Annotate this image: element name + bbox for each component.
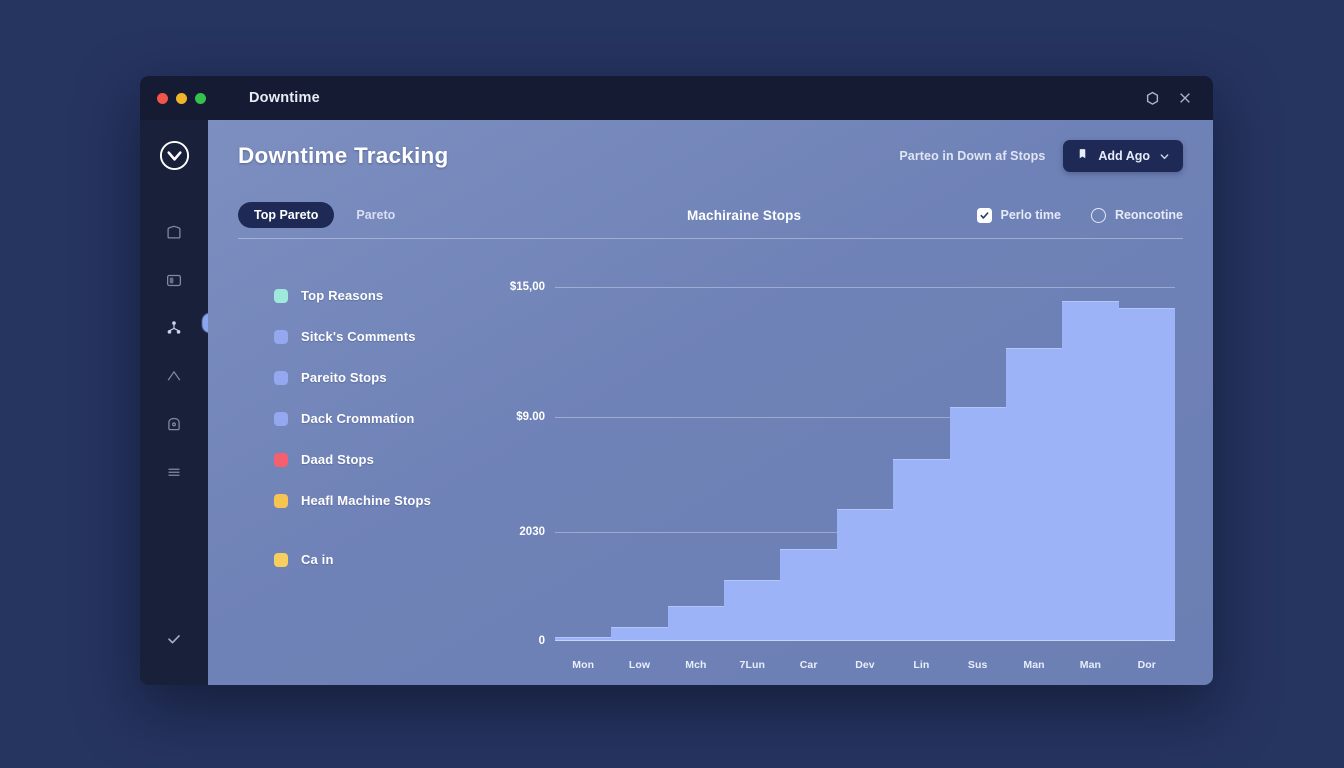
chart-section: Top ReasonsSitck's CommentsPareito Stops… xyxy=(232,239,1189,685)
chart-x-tick-label: Low xyxy=(611,659,667,671)
chart-x-tick-label: Dev xyxy=(837,659,893,671)
sidebar-item-network[interactable] xyxy=(152,306,196,350)
window-title: Downtime xyxy=(249,90,320,106)
page-header: Downtime Tracking Parteo in Down af Stop… xyxy=(232,120,1189,192)
chevron-circle-logo[interactable] xyxy=(158,139,191,172)
chart-x-tick-labels: MonLowMch7LunCarDevLinSusManManDor xyxy=(555,659,1175,671)
option-pareto-time[interactable]: Perlo time xyxy=(977,208,1061,223)
legend-item-label: Pareito Stops xyxy=(301,370,387,385)
legend-swatch xyxy=(274,412,288,426)
chart-bar[interactable] xyxy=(837,509,893,641)
sidebar-item-check[interactable] xyxy=(152,617,196,661)
chart-x-tick-label: Dor xyxy=(1119,659,1175,671)
close-icon[interactable] xyxy=(1178,91,1192,105)
legend-item[interactable]: Heafl Machine Stops xyxy=(274,480,493,521)
legend-item-label: Ca in xyxy=(301,552,334,567)
legend-item-label: Daad Stops xyxy=(301,452,374,467)
legend-item[interactable]: Top Reasons xyxy=(274,275,493,316)
radio-unchecked-icon[interactable] xyxy=(1091,208,1106,223)
app-window: Downtime xyxy=(140,76,1213,685)
header-note: Parteo in Down af Stops xyxy=(899,149,1045,163)
chart-bar[interactable] xyxy=(1062,301,1118,641)
chart-area: $15,00$9.0020300 MonLowMch7LunCarDevLinS… xyxy=(493,267,1183,685)
legend-swatch xyxy=(274,289,288,303)
chart-y-tick-label: $9.00 xyxy=(516,411,545,423)
header-actions: Parteo in Down af Stops Add Ago xyxy=(899,140,1183,172)
chart-x-tick-label: Man xyxy=(1062,659,1118,671)
chart-bar[interactable] xyxy=(724,580,780,641)
legend-item[interactable]: Dack Crommation xyxy=(274,398,493,439)
sidebar-item-box[interactable] xyxy=(152,210,196,254)
page-title: Downtime Tracking xyxy=(238,143,449,169)
window-body: Downtime Tracking Parteo in Down af Stop… xyxy=(140,120,1213,685)
check-icon xyxy=(164,629,184,649)
legend-item[interactable]: Ca in xyxy=(274,539,493,580)
chart-bar[interactable] xyxy=(1119,308,1175,641)
legend-item-label: Dack Crommation xyxy=(301,411,415,426)
option-pareto-time-label: Perlo time xyxy=(1001,208,1061,222)
chart-x-tick-label: Car xyxy=(780,659,836,671)
chart-legend: Top ReasonsSitck's CommentsPareito Stops… xyxy=(238,267,493,685)
checkbox-checked-icon[interactable] xyxy=(977,208,992,223)
sidebar-item-home[interactable] xyxy=(152,354,196,398)
chart-bar[interactable] xyxy=(950,407,1006,641)
hexagon-icon[interactable] xyxy=(1145,91,1160,106)
add-button-label: Add Ago xyxy=(1098,149,1150,163)
option-reoncotine-label: Reoncotine xyxy=(1115,208,1183,222)
legend-item[interactable]: Daad Stops xyxy=(274,439,493,480)
chart-bar[interactable] xyxy=(893,459,949,641)
legend-item[interactable]: Sitck's Comments xyxy=(274,316,493,357)
chart-x-tick-label: Sus xyxy=(950,659,1006,671)
tab-pareto[interactable]: Pareto xyxy=(340,202,411,228)
chart-x-tick-label: 7Lun xyxy=(724,659,780,671)
window-icon xyxy=(164,270,184,290)
add-button[interactable]: Add Ago xyxy=(1063,140,1183,172)
sidebar-item-window[interactable] xyxy=(152,258,196,302)
network-share-icon xyxy=(164,318,184,338)
chart-y-tick-label: $15,00 xyxy=(510,281,545,293)
legend-swatch xyxy=(274,553,288,567)
chart-y-tick-label: 2030 xyxy=(519,526,545,538)
main-content: Downtime Tracking Parteo in Down af Stop… xyxy=(208,120,1213,685)
chart-bars xyxy=(555,275,1175,641)
menu-lines-icon xyxy=(164,462,184,482)
chart-plot: $15,00$9.0020300 xyxy=(555,275,1175,641)
tabs-row: Top Pareto Pareto Machiraine Stops Perlo… xyxy=(232,192,1189,238)
legend-swatch xyxy=(274,371,288,385)
lock-bag-icon xyxy=(164,414,184,434)
chart-bar[interactable] xyxy=(780,549,836,641)
sidebar-item-menu[interactable] xyxy=(152,450,196,494)
chart-bar[interactable] xyxy=(1006,348,1062,641)
window-controls xyxy=(1145,91,1213,106)
legend-item-label: Heafl Machine Stops xyxy=(301,493,431,508)
legend-swatch xyxy=(274,494,288,508)
chart-x-tick-label: Mch xyxy=(668,659,724,671)
window-titlebar: Downtime xyxy=(140,76,1213,120)
box-icon xyxy=(164,222,184,242)
chart-x-tick-label: Mon xyxy=(555,659,611,671)
close-traffic-light[interactable] xyxy=(157,93,168,104)
maximize-traffic-light[interactable] xyxy=(195,93,206,104)
chart-x-tick-label: Lin xyxy=(893,659,949,671)
legend-swatch xyxy=(274,453,288,467)
legend-item[interactable]: Pareito Stops xyxy=(274,357,493,398)
legend-item-label: Top Reasons xyxy=(301,288,383,303)
option-reoncotine[interactable]: Reoncotine xyxy=(1091,208,1183,223)
chevron-down-icon xyxy=(1159,151,1170,162)
tab-top-pareto[interactable]: Top Pareto xyxy=(238,202,334,228)
chart-bar[interactable] xyxy=(668,606,724,641)
chart-subtitle: Machiraine Stops xyxy=(687,208,801,223)
chart-y-tick-label: 0 xyxy=(539,635,545,647)
view-options: Perlo time Reoncotine xyxy=(977,208,1184,223)
chart-x-tick-label: Man xyxy=(1006,659,1062,671)
traffic-lights xyxy=(140,93,208,104)
minimize-traffic-light[interactable] xyxy=(176,93,187,104)
tag-icon xyxy=(1076,148,1089,164)
sidebar-item-lock[interactable] xyxy=(152,402,196,446)
sidebar xyxy=(140,120,208,685)
legend-item-label: Sitck's Comments xyxy=(301,329,416,344)
legend-swatch xyxy=(274,330,288,344)
chart-x-axis xyxy=(555,640,1175,642)
home-icon xyxy=(164,366,184,386)
